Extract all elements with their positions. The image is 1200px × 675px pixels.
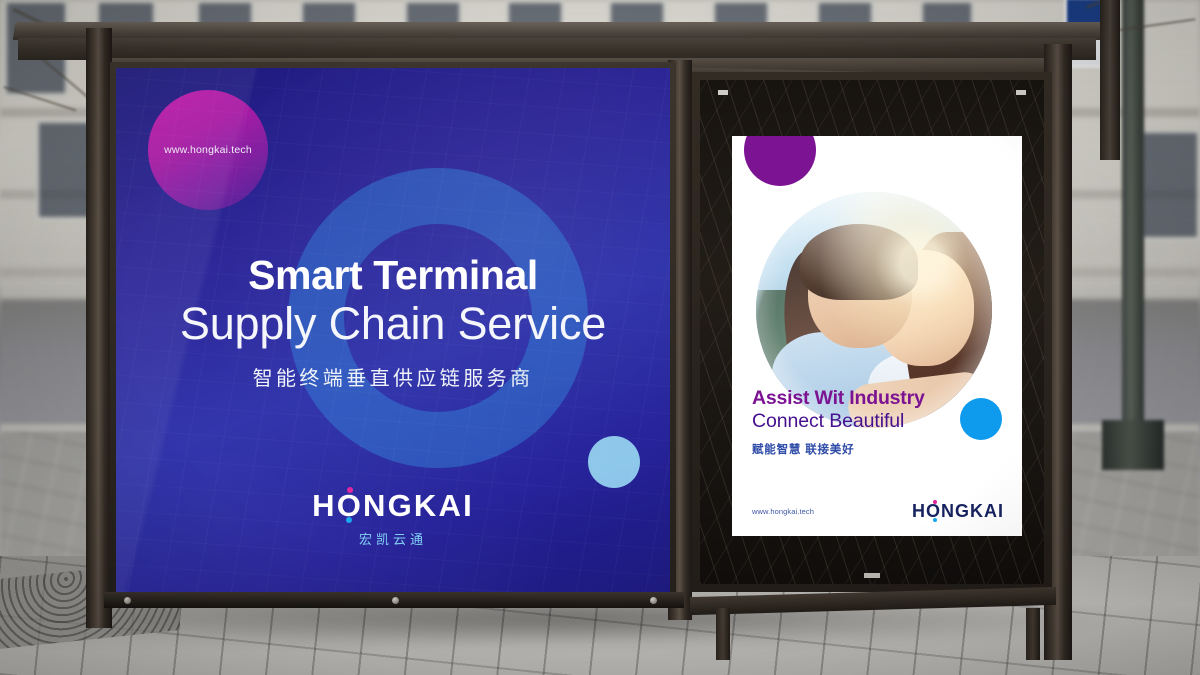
headline-secondary-right: Connect Beautiful xyxy=(752,410,982,433)
poster-right[interactable]: Assist Wit Industry Connect Beautiful 赋能… xyxy=(732,136,1022,536)
rail-screw xyxy=(392,597,399,604)
billboard-frame-right: Assist Wit Industry Connect Beautiful 赋能… xyxy=(692,72,1052,592)
logo-wordmark-pre: H xyxy=(312,488,337,523)
logo-wordmark-right-pre: H xyxy=(912,501,926,521)
headline-primary: Smart Terminal xyxy=(116,254,670,297)
logo-wordmark: HONGKAI xyxy=(312,488,474,524)
logo-wordmark-right-post: NGKAI xyxy=(941,501,1004,521)
shelter-post-left xyxy=(86,28,112,628)
bench-leg xyxy=(716,608,730,660)
bus-shelter-scene: www.hongkai.tech Smart Terminal Supply C… xyxy=(0,0,1200,675)
accent-circle-purple xyxy=(744,136,816,186)
rail-screw xyxy=(124,597,131,604)
brand-logo-left: HONGKAI 宏凯云通 xyxy=(116,488,670,548)
logo-dot-magenta-icon-right xyxy=(933,500,937,504)
logo-dot-cyan-icon-right xyxy=(933,518,937,522)
rail-screw xyxy=(650,597,657,604)
case-clip xyxy=(1016,90,1026,95)
accent-dot-lightblue xyxy=(588,436,640,488)
glass-panel: Assist Wit Industry Connect Beautiful 赋能… xyxy=(700,80,1044,584)
headline-primary-right: Assist Wit Industry xyxy=(752,388,982,409)
case-clip xyxy=(718,90,728,95)
case-latch[interactable] xyxy=(864,573,880,578)
headline-secondary: Supply Chain Service xyxy=(116,299,670,349)
brand-logo-right: HONGKAI xyxy=(912,501,1004,522)
url-text-right: www.hongkai.tech xyxy=(752,507,814,516)
shelter-roof-band xyxy=(18,38,1096,60)
bench-leg xyxy=(1026,608,1040,660)
poster-right-copy: Assist Wit Industry Connect Beautiful 赋能… xyxy=(752,388,982,457)
logo-chinese: 宏凯云通 xyxy=(116,529,670,548)
headline-chinese: 智能终端垂直供应链服务商 xyxy=(116,362,670,391)
billboard-frame-left: www.hongkai.tech Smart Terminal Supply C… xyxy=(110,62,676,602)
shelter-structure: www.hongkai.tech Smart Terminal Supply C… xyxy=(0,0,1200,675)
logo-wordmark-right: HONGKAI xyxy=(912,501,1004,522)
poster-left-copy: Smart Terminal Supply Chain Service 智能终端… xyxy=(116,254,670,391)
logo-wordmark-post: NGKAI xyxy=(363,488,474,523)
url-badge-text: www.hongkai.tech xyxy=(148,144,268,156)
headline-chinese-right: 赋能智慧 联接美好 xyxy=(752,441,982,457)
shelter-post-far-right xyxy=(1100,0,1120,160)
poster-left[interactable]: www.hongkai.tech Smart Terminal Supply C… xyxy=(116,68,670,592)
url-badge-circle: www.hongkai.tech xyxy=(148,90,268,210)
